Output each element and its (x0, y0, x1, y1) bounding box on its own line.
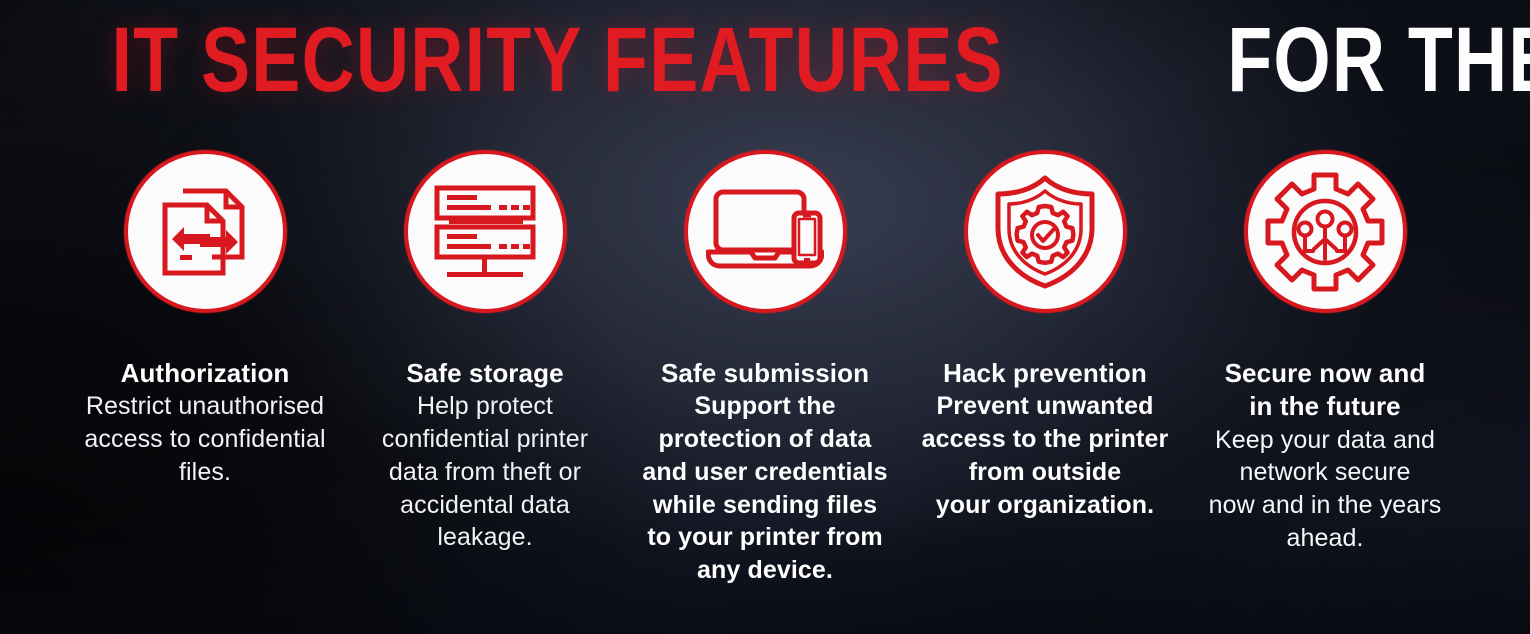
document-transfer-icon (124, 150, 287, 313)
feature-body: Prevent unwanted access to the printer f… (922, 390, 1169, 521)
feature-body: Keep your data and network secure now an… (1209, 424, 1442, 555)
feature-heading: Safe storage (406, 357, 563, 390)
feature-columns: Authorization Restrict unauthorised acce… (0, 150, 1530, 587)
feature-column-safe-storage: Safe storage Help protect confidential p… (345, 150, 625, 587)
feature-heading: Hack prevention (943, 357, 1147, 390)
laptop-phone-icon (684, 150, 847, 313)
server-storage-icon (404, 150, 567, 313)
feature-column-secure-future: Secure now and in the future Keep your d… (1185, 150, 1465, 587)
feature-heading: Secure now and in the future (1225, 357, 1426, 424)
feature-heading: Authorization (121, 357, 290, 390)
feature-heading: Safe submission (661, 357, 869, 390)
feature-column-hack-prevention: Hack prevention Prevent unwanted access … (905, 150, 1185, 587)
feature-body: Help protect confidential printer data f… (382, 390, 588, 554)
feature-column-authorization: Authorization Restrict unauthorised acce… (65, 150, 345, 587)
title-white-part: FOR THE YEARS AHEAD (1228, 14, 1530, 106)
infographic-banner: IT SECURITY FEATURESFOR THE YEARS AHEAD (0, 0, 1530, 634)
feature-body: Support the protection of data and user … (642, 390, 887, 587)
title-red-part: IT SECURITY FEATURES (112, 14, 1004, 106)
feature-body: Restrict unauthorised access to confiden… (84, 390, 325, 488)
gear-circuit-icon (1244, 150, 1407, 313)
shield-gear-check-icon (964, 150, 1127, 313)
feature-column-safe-submission: Safe submission Support the protection o… (625, 150, 905, 587)
banner-title: IT SECURITY FEATURESFOR THE YEARS AHEAD (0, 14, 1530, 106)
